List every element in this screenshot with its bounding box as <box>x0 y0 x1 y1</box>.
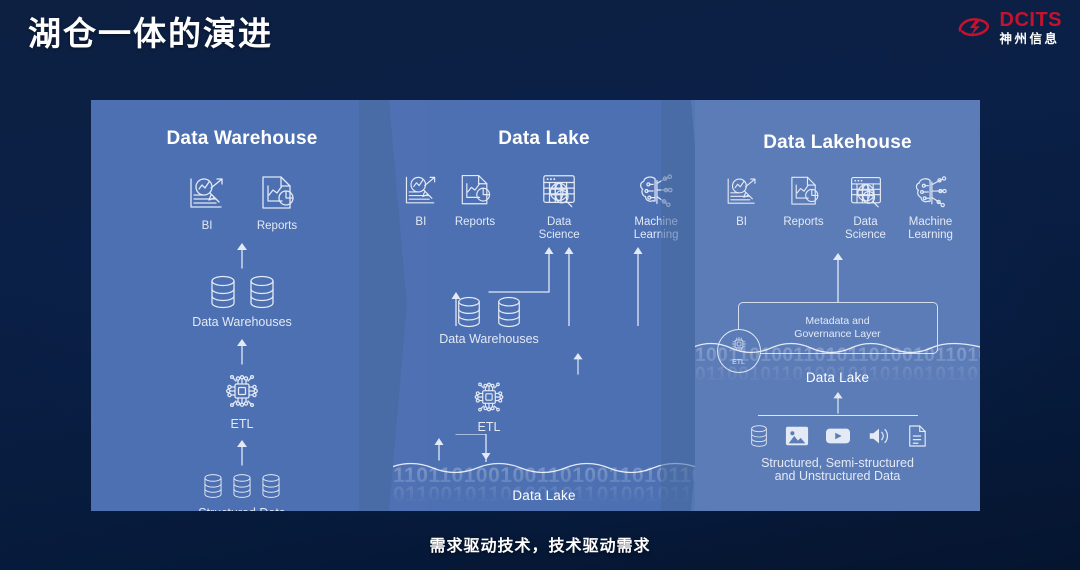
store-label: Data Warehouses <box>393 333 695 346</box>
etl-chip-icon <box>471 379 507 415</box>
bi-chart-magnifier-icon <box>185 174 229 214</box>
database-icon <box>202 472 224 500</box>
reports-document-icon <box>785 174 823 210</box>
source-bus-line <box>758 415 918 416</box>
consumer-bi: BI <box>185 174 229 233</box>
database-icon <box>260 472 282 500</box>
reports-document-icon <box>255 174 299 214</box>
consumer-bi: BI <box>401 172 441 229</box>
audio-speaker-icon <box>867 424 891 448</box>
consumer-reports: Reports <box>455 172 495 229</box>
consumer-data-science: Data Science <box>531 172 587 242</box>
database-icon <box>208 275 238 309</box>
consumer-bi: BI <box>716 174 768 229</box>
arrow-up-icon <box>831 392 845 414</box>
lake-label: Data Lake <box>393 488 695 503</box>
arrow-up-icon <box>235 339 249 365</box>
page-title: 湖仓一体的演进 <box>28 12 273 56</box>
database-icon <box>749 424 769 448</box>
etl-label: ETL <box>393 421 585 434</box>
data-science-globe-icon <box>539 172 579 210</box>
consumer-label: Data Science <box>840 216 892 242</box>
consumer-reports: Reports <box>778 174 830 229</box>
diagram-board: Data Warehouse BI <box>91 100 980 511</box>
consumer-label: BI <box>415 216 426 229</box>
column-data-lakehouse: Data Lakehouse BI Reports <box>695 100 980 511</box>
store-label: Data Warehouses <box>91 316 393 329</box>
database-icon <box>247 275 277 309</box>
logo-text-en: DCITS <box>1000 10 1063 30</box>
column-data-warehouse: Data Warehouse BI <box>91 100 393 511</box>
consumer-label: Reports <box>783 216 823 229</box>
bi-chart-magnifier-icon <box>723 174 761 210</box>
consumer-label: Reports <box>455 216 495 229</box>
consumer-label: Data Science <box>531 216 587 242</box>
source-label: Structured Data <box>91 507 393 511</box>
video-icon <box>825 424 851 448</box>
footer-tagline: 需求驱动技术，技术驱动需求 <box>0 532 1080 556</box>
column-title-data-warehouse: Data Warehouse <box>91 128 393 150</box>
consumer-reports: Reports <box>255 174 299 233</box>
database-icon <box>455 296 483 328</box>
data-science-globe-icon <box>847 174 885 210</box>
dcits-swoosh-icon <box>955 13 993 43</box>
machine-learning-brain-icon <box>912 174 950 210</box>
consumer-data-science: Data Science <box>840 174 892 242</box>
reports-document-icon <box>455 172 495 210</box>
source-line-2: and Unstructured Data <box>695 470 980 483</box>
etl-label: ETL <box>91 418 393 431</box>
consumer-label: Reports <box>257 220 297 233</box>
metadata-line-1: Metadata and <box>805 315 869 328</box>
arrow-up-icon <box>235 243 249 269</box>
column-title-data-lakehouse: Data Lakehouse <box>695 132 980 154</box>
image-icon <box>785 424 809 448</box>
database-icon <box>495 296 523 328</box>
arrow-up-icon <box>571 353 585 375</box>
consumer-machine-learning: Machine Learning <box>902 174 960 242</box>
brand-logo: DCITS 神州信息 <box>955 10 1063 46</box>
etl-chip-icon <box>222 371 262 411</box>
bi-chart-magnifier-icon <box>401 172 441 210</box>
consumer-label: BI <box>736 216 747 229</box>
consumer-label: Machine Learning <box>902 216 960 242</box>
logo-text-cn: 神州信息 <box>1000 33 1063 46</box>
document-icon <box>907 424 927 448</box>
consumer-label: BI <box>202 220 213 233</box>
lake-label: Data Lake <box>695 370 980 385</box>
column-data-lake: Data Lake BI Reports <box>393 100 695 511</box>
column-title-data-lake: Data Lake <box>393 128 695 150</box>
arrow-up-icon <box>235 440 249 466</box>
arrow-up-icon <box>831 250 845 302</box>
database-icon <box>231 472 253 500</box>
